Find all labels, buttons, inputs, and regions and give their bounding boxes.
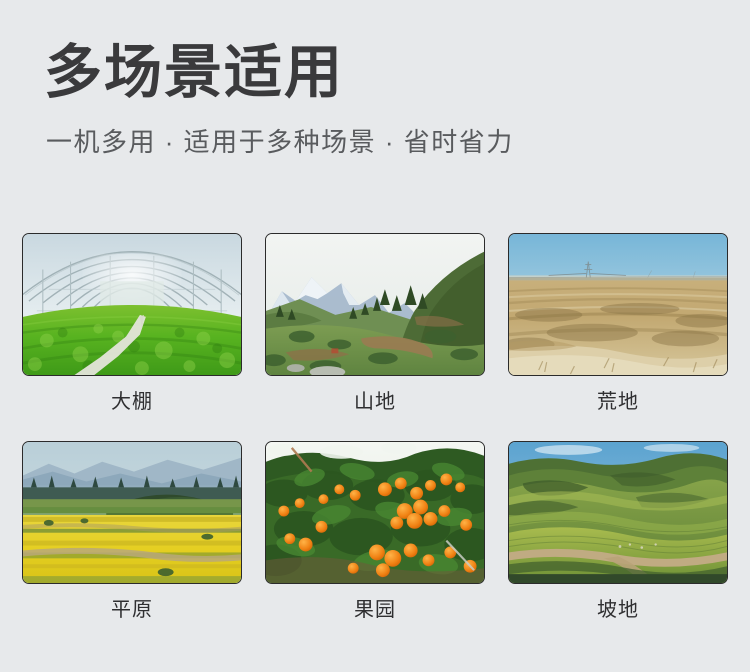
scene-card[interactable]: 山地 <box>265 233 485 412</box>
header: 多场景适用 一机多用 · 适用于多种场景 · 省时省力 <box>0 0 750 158</box>
scene-thumbnail[interactable] <box>508 441 728 584</box>
scene-thumbnail[interactable] <box>265 441 485 584</box>
scene-caption: 山地 <box>265 392 485 412</box>
barren-dry-grassland-photo <box>509 234 727 375</box>
page-title: 多场景适用 <box>44 42 750 105</box>
scene-caption: 大棚 <box>22 392 242 412</box>
scene-thumbnail[interactable] <box>22 441 242 584</box>
scene-card[interactable]: 大棚 <box>22 233 242 412</box>
scene-caption: 果园 <box>265 600 485 620</box>
mountain-terraced-slope-photo <box>266 234 484 375</box>
scene-thumbnail[interactable] <box>508 233 728 376</box>
scene-caption: 荒地 <box>508 392 728 412</box>
scene-card[interactable]: 坡地 <box>508 441 728 620</box>
plain-rapeseed-field-photo <box>23 442 241 583</box>
scene-showcase-page: 多场景适用 一机多用 · 适用于多种场景 · 省时省力 <box>0 0 750 672</box>
citrus-orchard-photo <box>266 442 484 583</box>
scene-caption: 坡地 <box>508 600 728 620</box>
scene-thumbnail[interactable] <box>265 233 485 376</box>
scene-card[interactable]: 荒地 <box>508 233 728 412</box>
greenhouse-vegetable-field-photo <box>23 234 241 375</box>
scene-caption: 平原 <box>22 600 242 620</box>
page-subtitle: 一机多用 · 适用于多种场景 · 省时省力 <box>46 127 750 158</box>
scene-grid: 大棚 <box>22 233 728 620</box>
scene-card[interactable]: 平原 <box>22 441 242 620</box>
scene-card[interactable]: 果园 <box>265 441 485 620</box>
rolling-hills-slope-photo <box>509 442 727 583</box>
scene-thumbnail[interactable] <box>22 233 242 376</box>
